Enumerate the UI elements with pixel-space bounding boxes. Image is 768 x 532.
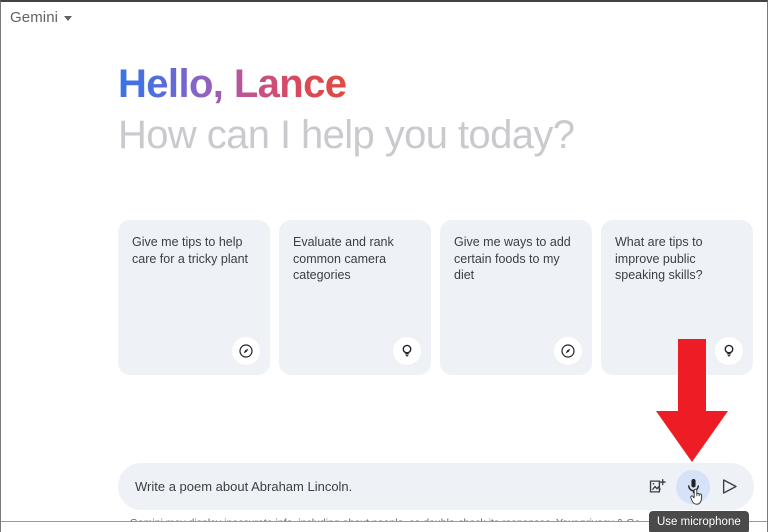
suggestion-card-text: What are tips to improve public speaking… [615,234,739,284]
greeting-primary: Hello, Lance [118,60,346,108]
greeting-secondary: How can I help you today? [118,110,718,160]
chevron-down-icon [64,16,72,21]
send-icon [720,477,739,496]
suggestion-card-list: Give me tips to help care for a tricky p… [118,220,753,375]
suggestion-card[interactable]: Give me tips to help care for a tricky p… [118,220,270,375]
suggestion-card-text: Evaluate and rank common camera categori… [293,234,417,284]
brand-menu-button[interactable]: Gemini [10,9,72,26]
prompt-input-bar[interactable] [118,463,754,510]
suggestion-card[interactable]: What are tips to improve public speaking… [601,220,753,375]
prompt-input[interactable] [135,479,638,494]
suggestion-card[interactable]: Give me ways to add certain foods to my … [440,220,592,375]
add-image-icon [648,477,667,496]
add-image-button[interactable] [640,470,674,504]
suggestion-card-text: Give me ways to add certain foods to my … [454,234,578,284]
microphone-icon [684,477,703,496]
send-button[interactable] [712,470,746,504]
greeting-block: Hello, Lance How can I help you today? [118,60,718,160]
microphone-button[interactable] [676,470,710,504]
lightbulb-icon [715,337,743,365]
explore-compass-icon [232,337,260,365]
gemini-app-window: Gemini Hello, Lance How can I help you t… [0,0,768,532]
suggestion-card[interactable]: Evaluate and rank common camera categori… [279,220,431,375]
brand-label: Gemini [10,9,58,26]
explore-compass-icon [554,337,582,365]
microphone-tooltip: Use microphone [649,511,749,532]
suggestion-card-text: Give me tips to help care for a tricky p… [132,234,256,267]
top-bar: Gemini [1,2,768,32]
lightbulb-icon [393,337,421,365]
